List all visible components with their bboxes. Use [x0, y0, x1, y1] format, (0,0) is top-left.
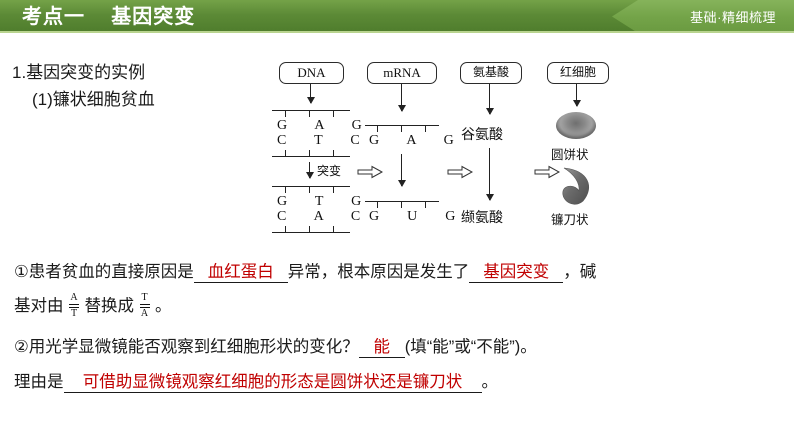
- q2-reason-label: 理由是: [14, 368, 64, 392]
- q2-text-b: (填“能”或“不能”)。: [405, 333, 537, 357]
- arrow-mrna-mutation: [401, 154, 402, 186]
- q2-blank-answer[interactable]: 能: [359, 337, 405, 358]
- sickle-cell-image: [558, 165, 596, 205]
- fraction-bar: [69, 304, 79, 305]
- header-badge-label: 基础·精细梳理: [690, 7, 776, 26]
- diagram-box-mrna: mRNA: [367, 62, 437, 84]
- mutation-label: 突变: [317, 162, 341, 179]
- red-blood-cell-disc-image: [556, 112, 596, 139]
- mutation-flow-diagram: DNA G A G C T C 突变 G T G C A C mRNA G A …: [262, 62, 792, 247]
- fraction-denominator: A: [137, 309, 152, 318]
- arrow-glutamate-to-valine: [489, 148, 490, 200]
- q1-line2-text-a: 基对由: [14, 292, 64, 316]
- arrow-mrna-to-sequence: [401, 84, 402, 111]
- mrna-tick: [401, 126, 402, 132]
- dna-after-bottom-strand: C A C: [277, 209, 367, 225]
- arrow-mutation: [309, 162, 310, 178]
- mrna-tick: [425, 126, 426, 132]
- flow-arrow-dna-to-mrna: [357, 165, 383, 179]
- arrow-cell-to-shape: [576, 84, 577, 106]
- diagram-box-dna: DNA: [279, 62, 344, 84]
- q2-text-a: ②用光学显微镜能否观察到红细胞形状的变化？: [14, 333, 359, 357]
- base-pair-fraction-at: A T: [67, 296, 82, 315]
- arrow-amino-to-glutamate: [489, 84, 490, 114]
- q1-blank-1[interactable]: 血红蛋白: [194, 262, 288, 283]
- question-1-line-2: 基对由 A T 替换成 T A 。: [14, 292, 172, 316]
- q1-line2-text-c: 。: [155, 292, 172, 316]
- mrna-tick: [377, 202, 378, 208]
- q1-line2-text-b: 替换成: [85, 292, 135, 316]
- base-pair-fraction-ta: T A: [137, 296, 152, 315]
- dna-rail-top: [272, 110, 350, 111]
- fraction-bar: [140, 304, 150, 305]
- q1-text-c: ，碱: [563, 258, 596, 282]
- dna-tick: [333, 111, 334, 117]
- flow-arrow-amino-to-cell: [534, 165, 560, 179]
- dna-tick: [285, 187, 286, 193]
- q1-text-a: ①患者贫血的直接原因是: [14, 258, 194, 282]
- cell-shape-label-sickle: 镰刀状: [551, 209, 589, 228]
- page-title: 考点一 基因突变: [22, 3, 195, 31]
- arrow-dna-to-sequence: [310, 84, 311, 103]
- fraction-numerator: A: [67, 293, 82, 302]
- mrna-tick: [401, 202, 402, 208]
- subsection-sickle-cell: (1)镰状细胞贫血: [32, 85, 155, 110]
- question-1-line-1: ①患者贫血的直接原因是 血红蛋白 异常，根本原因是发生了 基因突变 ，碱: [14, 258, 596, 283]
- section-heading-examples: 1.基因突变的实例: [12, 58, 145, 83]
- mrna-after-sequence: G U G: [369, 209, 462, 225]
- q2-reason-end: 。: [482, 368, 499, 392]
- dna-rail-bottom: [272, 156, 350, 157]
- cell-shape-label-disc: 圆饼状: [551, 144, 589, 163]
- amino-acid-before: 谷氨酸: [461, 124, 503, 144]
- mrna-tick: [377, 126, 378, 132]
- dna-tick: [309, 187, 310, 193]
- flow-arrow-mrna-to-amino: [447, 165, 473, 179]
- fraction-numerator: T: [137, 293, 152, 302]
- mrna-tick: [425, 202, 426, 208]
- q1-text-b: 异常，根本原因是发生了: [288, 258, 470, 282]
- dna-before-bottom-strand: C T C: [277, 133, 367, 149]
- amino-acid-after: 缬氨酸: [461, 207, 503, 227]
- dna-tick: [285, 111, 286, 117]
- dna-before-top-strand: G A G: [277, 118, 369, 134]
- dna-tick: [333, 187, 334, 193]
- dna-after-top-strand: G T G: [277, 194, 368, 210]
- q1-blank-2[interactable]: 基因突变: [469, 262, 563, 283]
- q2-blank-reason[interactable]: 可借助显微镜观察红细胞的形态是圆饼状还是镰刀状: [64, 372, 482, 393]
- dna-rail-bottom-after: [272, 232, 350, 233]
- fraction-denominator: T: [67, 309, 82, 318]
- diagram-box-amino-acid: 氨基酸: [460, 62, 522, 84]
- question-2-line-2: 理由是 可借助显微镜观察红细胞的形态是圆饼状还是镰刀状 。: [14, 368, 498, 393]
- diagram-box-red-cell: 红细胞: [547, 62, 609, 84]
- dna-tick: [309, 111, 310, 117]
- question-2-line-1: ②用光学显微镜能否观察到红细胞形状的变化？ 能 (填“能”或“不能”)。: [14, 333, 537, 358]
- mrna-before-sequence: G A G: [369, 133, 461, 149]
- header-bar: 考点一 基因突变 基础·精细梳理: [0, 0, 794, 33]
- dna-rail-top-after: [272, 186, 350, 187]
